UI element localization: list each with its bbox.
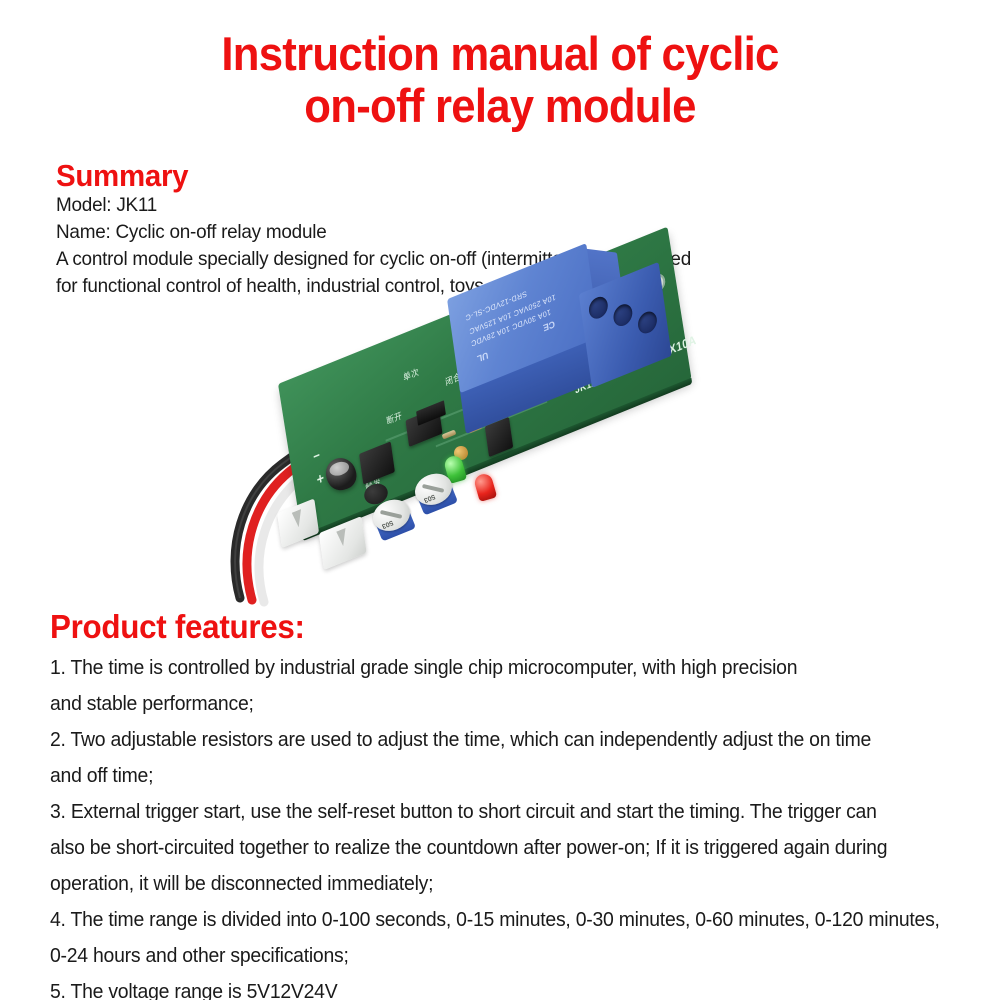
product-features-heading: Product features:	[50, 608, 305, 646]
terminal-screw-2[interactable]	[612, 301, 633, 329]
connector-notch	[336, 528, 348, 548]
capacitor-top	[328, 459, 351, 478]
summary-heading: Summary	[56, 158, 188, 194]
relay-ce-badge: CE	[543, 319, 556, 334]
summary-body-text: Model: JK11 Name: Cyclic on-off relay mo…	[56, 192, 793, 300]
instruction-manual-page: Instruction manual of cyclic on-off rela…	[0, 0, 1000, 1000]
page-title: Instruction manual of cyclic on-off rela…	[35, 28, 965, 132]
product-features-body-text: 1. The time is controlled by industrial …	[50, 650, 962, 1000]
terminal-screw-1[interactable]	[588, 294, 609, 322]
relay-ul-badge: UL	[476, 350, 489, 365]
connector-notch	[292, 509, 304, 529]
terminal-screw-3[interactable]	[637, 309, 658, 337]
product-photo-stage: JK11 V2.1 2022-5 MAX10A + − 触发 单次 断开 闭合	[220, 298, 690, 610]
product-photo: JK11 V2.1 2022-5 MAX10A + − 触发 单次 断开 闭合	[220, 298, 690, 610]
